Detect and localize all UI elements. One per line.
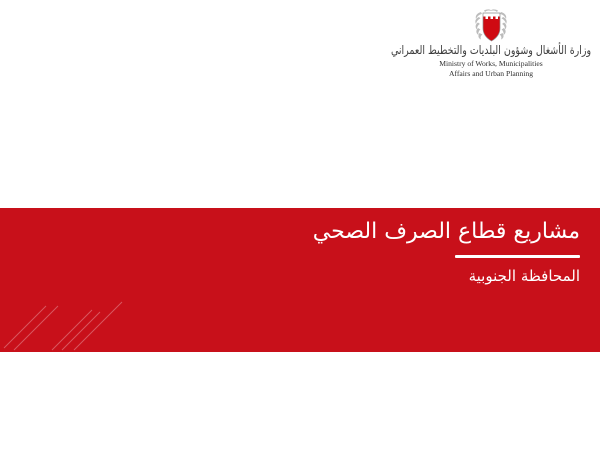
- ministry-name-english-line2: Affairs and Urban Planning: [416, 69, 566, 79]
- ministry-name-english-line1: Ministry of Works, Municipalities: [416, 59, 566, 69]
- presentation-slide: وزارة الأشغال وشؤون البلديات والتخطيط ال…: [0, 0, 600, 450]
- ministry-logo-block: وزارة الأشغال وشؤون البلديات والتخطيط ال…: [396, 8, 586, 79]
- banner-diagonal-streaks-decoration: [0, 282, 240, 352]
- title-divider: [455, 255, 580, 258]
- ministry-name-english: Ministry of Works, Municipalities Affair…: [416, 59, 566, 79]
- page-title: مشاريع قطاع الصرف الصحي: [160, 218, 580, 246]
- ministry-name-arabic: وزارة الأشغال وشؤون البلديات والتخطيط ال…: [391, 45, 591, 59]
- title-banner: مشاريع قطاع الصرف الصحي المحافظة الجنوبي…: [0, 208, 600, 352]
- bahrain-coat-of-arms-icon: [474, 8, 508, 44]
- banner-text-group: مشاريع قطاع الصرف الصحي المحافظة الجنوبي…: [160, 218, 580, 286]
- slide-bottom-whitespace: [0, 352, 600, 450]
- page-subtitle: المحافظة الجنوبية: [160, 267, 580, 287]
